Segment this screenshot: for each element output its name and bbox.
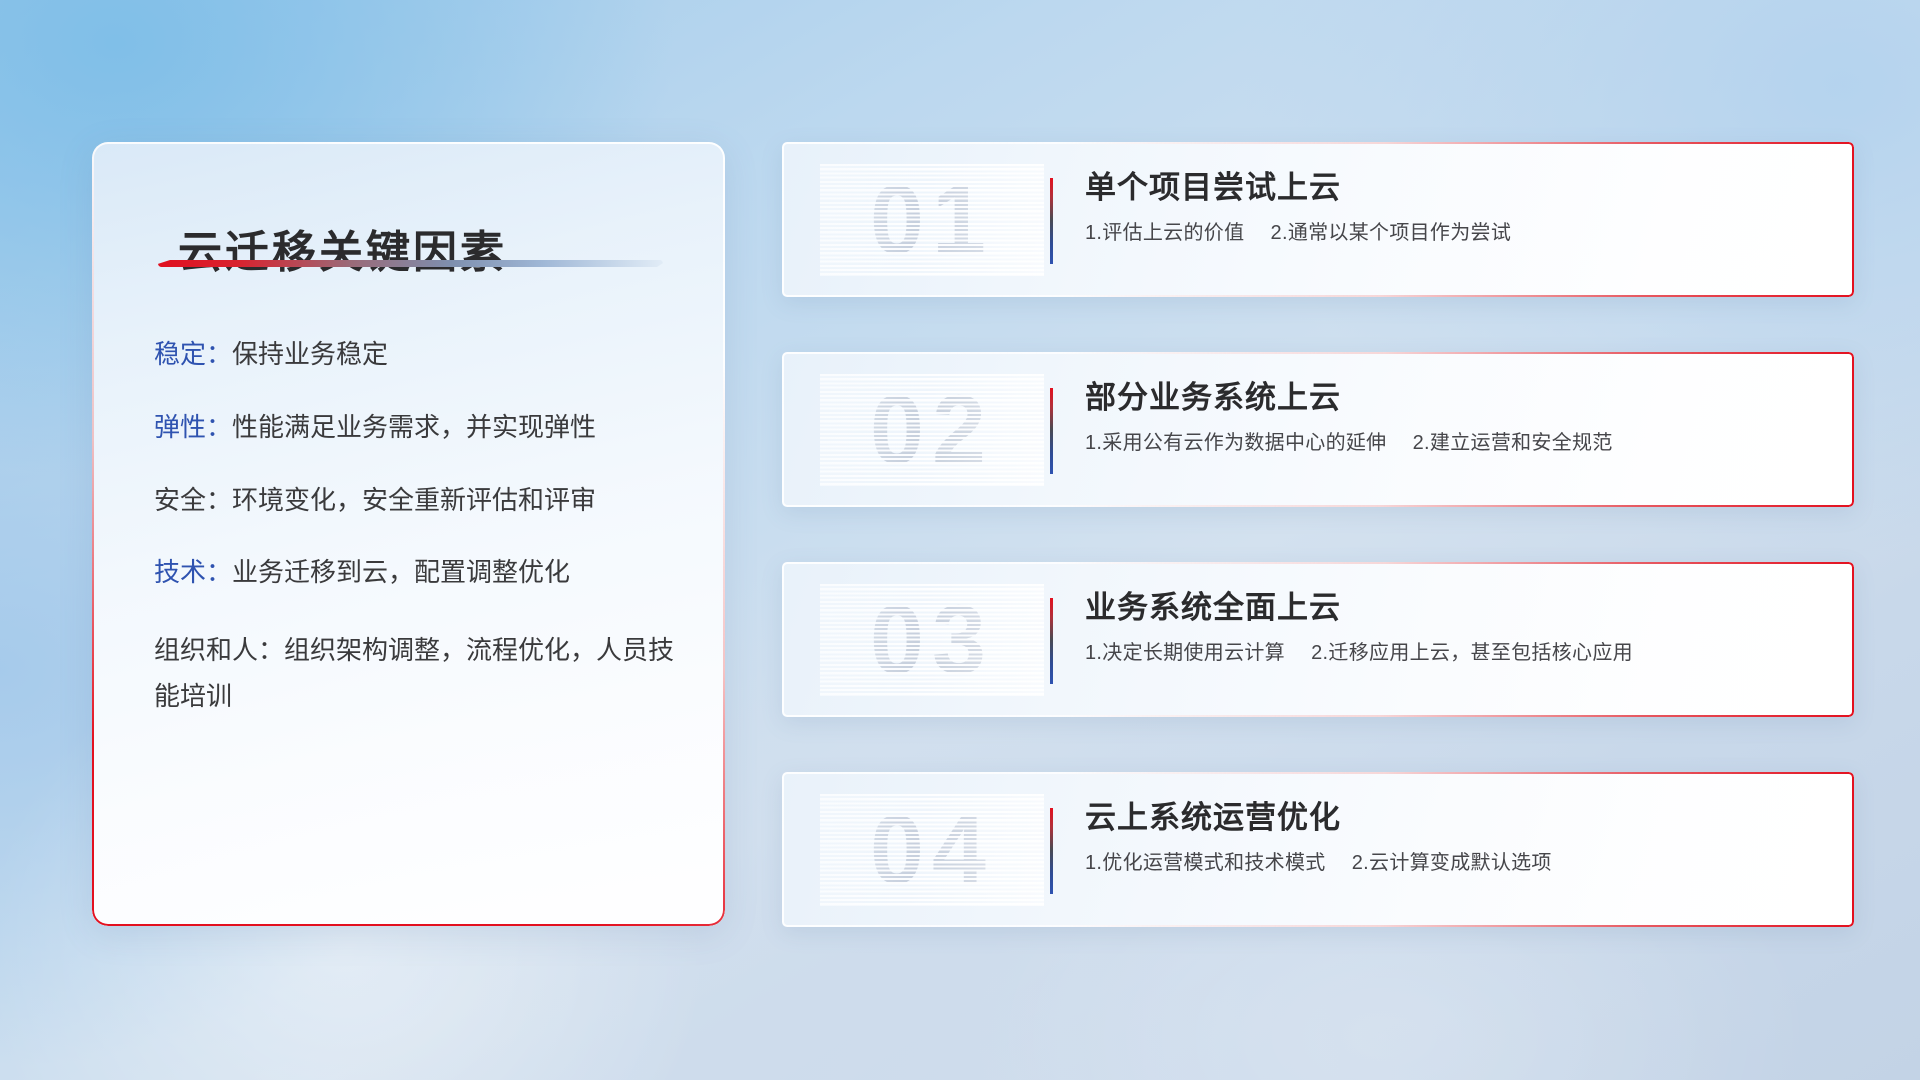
factor-key: 安全： [154, 485, 232, 515]
factor-item-technology: 技术：业务迁移到云，配置调整优化 [154, 555, 691, 590]
factor-key: 弹性： [154, 412, 232, 442]
factor-key: 组织和人： [154, 635, 284, 665]
step-card-01[interactable]: 01 单个项目尝试上云 1.评估上云的价值 2.通常以某个项目作为尝试 [782, 142, 1854, 297]
step-description: 1.决定长期使用云计算 2.迁移应用上云，甚至包括核心应用 [1085, 640, 1828, 666]
step-title: 业务系统全面上云 [1085, 588, 1828, 628]
step-accent-bar [1050, 178, 1053, 264]
step-title: 部分业务系统上云 [1085, 378, 1828, 418]
step-accent-bar [1050, 598, 1053, 684]
step-number: 04 [820, 794, 1044, 906]
step-number: 01 [820, 164, 1044, 276]
step-card-04[interactable]: 04 云上系统运营优化 1.优化运营模式和技术模式 2.云计算变成默认选项 [782, 772, 1854, 927]
factor-key: 稳定： [154, 339, 232, 369]
step-number-graphic: 03 [820, 584, 1044, 696]
title-underline-rule [158, 260, 663, 267]
factor-item-stability: 稳定：保持业务稳定 [154, 337, 691, 372]
step-card-02[interactable]: 02 部分业务系统上云 1.采用公有云作为数据中心的延伸 2.建立运营和安全规范 [782, 352, 1854, 507]
factor-list: 稳定：保持业务稳定 弹性：性能满足业务需求，并实现弹性 安全：环境变化，安全重新… [154, 337, 691, 757]
key-factors-panel: 云迁移关键因素 稳定：保持业务稳定 弹性：性能满足业务需求，并实现弹性 安全：环… [92, 142, 725, 926]
step-number: 03 [820, 584, 1044, 696]
factor-value: 业务迁移到云，配置调整优化 [232, 557, 570, 587]
step-description: 1.采用公有云作为数据中心的延伸 2.建立运营和安全规范 [1085, 430, 1828, 456]
step-number-graphic: 01 [820, 164, 1044, 276]
step-card-03[interactable]: 03 业务系统全面上云 1.决定长期使用云计算 2.迁移应用上云，甚至包括核心应… [782, 562, 1854, 717]
factor-value: 环境变化，安全重新评估和评审 [232, 485, 596, 515]
step-accent-bar [1050, 808, 1053, 894]
page-title: 云迁移关键因素 [178, 216, 507, 280]
step-description: 1.优化运营模式和技术模式 2.云计算变成默认选项 [1085, 850, 1828, 876]
factor-key: 技术： [154, 557, 232, 587]
factor-item-security: 安全：环境变化，安全重新评估和评审 [154, 483, 691, 518]
factor-value: 性能满足业务需求，并实现弹性 [232, 412, 596, 442]
factor-item-elasticity: 弹性：性能满足业务需求，并实现弹性 [154, 410, 691, 445]
factor-item-organization-people: 组织和人：组织架构调整，流程优化，人员技能培训 [154, 628, 691, 719]
step-title: 云上系统运营优化 [1085, 798, 1828, 838]
step-number-graphic: 02 [820, 374, 1044, 486]
step-number-graphic: 04 [820, 794, 1044, 906]
step-title: 单个项目尝试上云 [1085, 168, 1828, 208]
step-description: 1.评估上云的价值 2.通常以某个项目作为尝试 [1085, 220, 1828, 246]
factor-value: 保持业务稳定 [232, 339, 388, 369]
step-number: 02 [820, 374, 1044, 486]
step-accent-bar [1050, 388, 1053, 474]
